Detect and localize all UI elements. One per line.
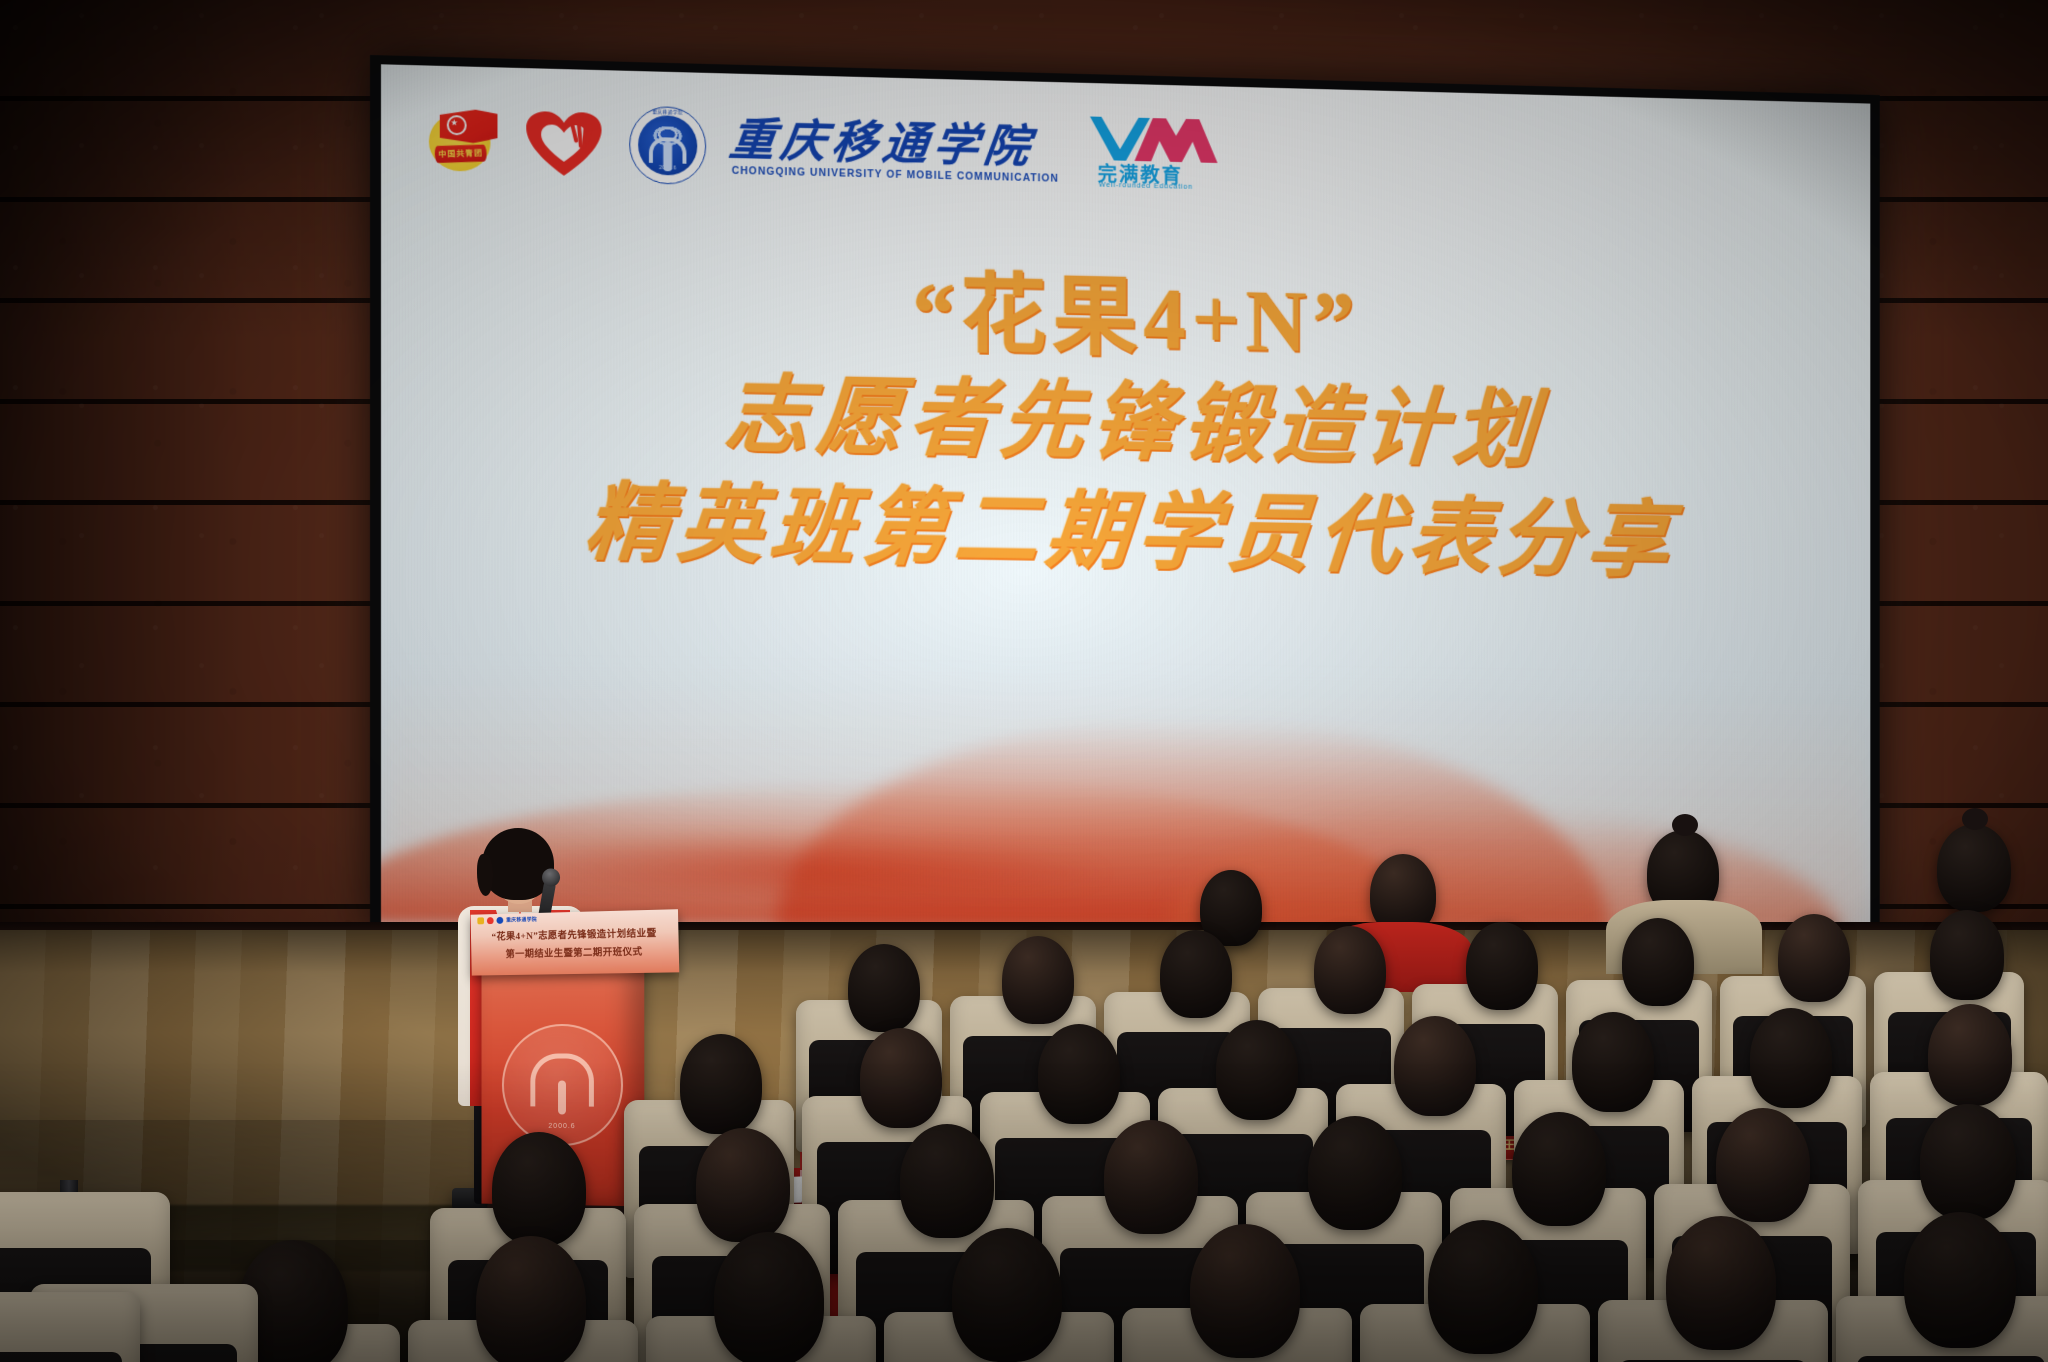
auditorium-seat — [0, 1292, 140, 1362]
audience-head — [680, 1034, 762, 1134]
university-wordmark: 重庆移通学院 CHONGQING UNIVERSITY OF MOBILE CO… — [730, 117, 1059, 185]
audience-head — [1002, 936, 1074, 1024]
audience-head — [476, 1236, 586, 1362]
audience-head — [1937, 824, 2011, 912]
audience-head — [1666, 1216, 1776, 1350]
audience-head — [1778, 914, 1850, 1002]
audience-hair-bun — [1962, 808, 1988, 830]
audience-head — [1750, 1008, 1832, 1108]
audience-head — [1104, 1120, 1198, 1234]
audience-head — [1190, 1224, 1300, 1358]
audience-head — [1428, 1220, 1538, 1354]
led-screen-frame: 中国共青团 重庆移通学院 2000.6 重庆移通学院 CHONGQING — [370, 55, 1880, 948]
audience-head — [900, 1124, 994, 1238]
audience-head — [860, 1028, 942, 1128]
slide-logo-bar: 中国共青团 重庆移通学院 2000.6 重庆移通学院 CHONGQING — [427, 99, 1235, 198]
communist-youth-league-emblem-icon: 中国共青团 — [427, 102, 501, 178]
university-name-cn: 重庆移通学院 — [727, 117, 1062, 171]
audience-head — [1512, 1112, 1606, 1226]
audience-head — [952, 1228, 1062, 1362]
photo-scene: 中国共青团 重庆移通学院 2000.6 重庆移通学院 CHONGQING — [0, 0, 2048, 1362]
presentation-screen: 中国共青团 重庆移通学院 2000.6 重庆移通学院 CHONGQING — [381, 64, 1870, 936]
audience-head — [848, 944, 920, 1032]
audience-hair-bun — [1672, 814, 1698, 836]
audience-head — [1716, 1108, 1810, 1222]
audience-head — [1920, 1104, 2016, 1220]
audience-head — [1394, 1016, 1476, 1116]
slide-title-block: “花果4+N” 志愿者先锋锻造计划 精英班第二期学员代表分享 — [381, 254, 1870, 599]
audience-head — [1314, 926, 1386, 1014]
cyl-ribbon-label: 中国共青团 — [434, 145, 487, 163]
audience-head — [714, 1232, 824, 1362]
audience-head — [1038, 1024, 1120, 1124]
audience-head — [1160, 930, 1232, 1018]
vm-wellrounded-logo: 完满教育 Well-rounded Education — [1090, 116, 1235, 198]
audience-head — [696, 1128, 790, 1242]
audience-area — [0, 892, 2048, 1362]
audience-head — [1572, 1012, 1654, 1112]
audience-head — [1466, 922, 1538, 1010]
audience-head — [1930, 910, 2004, 1000]
volunteer-heart-hand-icon — [526, 107, 603, 179]
audience-head — [1622, 918, 1694, 1006]
audience-head — [1928, 1004, 2012, 1106]
audience-head — [1216, 1020, 1298, 1120]
university-seal-icon: 重庆移通学院 2000.6 — [629, 106, 706, 185]
vm-name-en: Well-rounded Education — [1099, 180, 1193, 191]
audience-head — [492, 1132, 586, 1246]
audience-head — [1904, 1212, 2016, 1348]
audience-head — [1308, 1116, 1402, 1230]
